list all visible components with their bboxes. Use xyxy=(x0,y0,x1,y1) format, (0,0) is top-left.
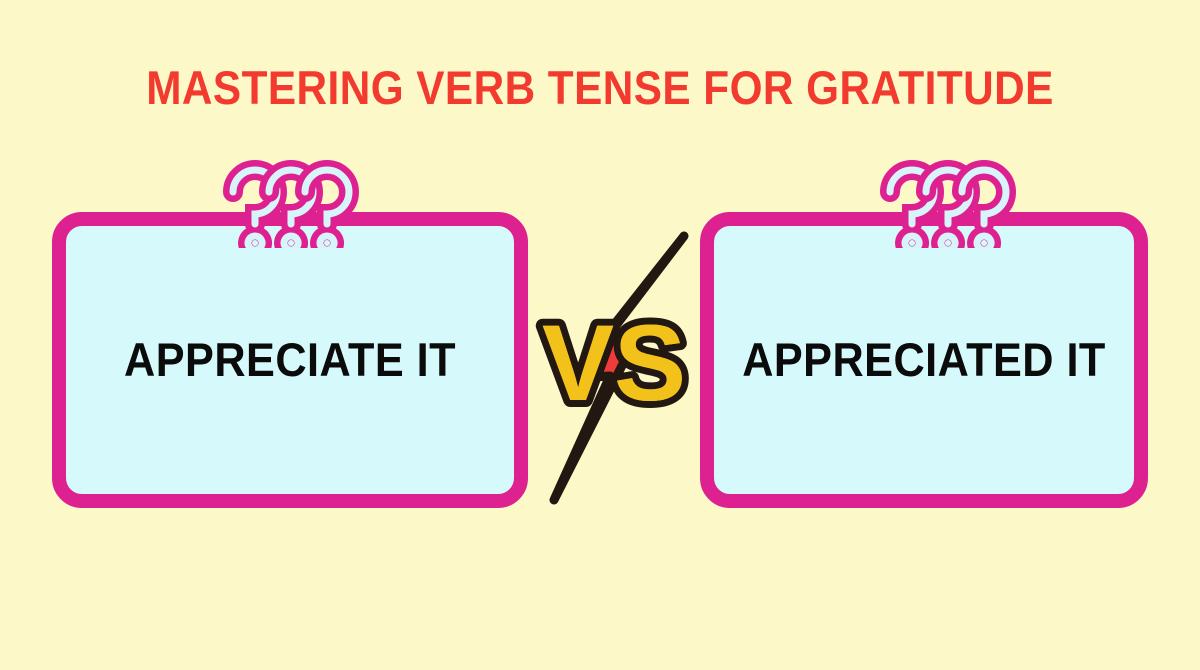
page-title: MASTERING VERB TENSE FOR GRATITUDE xyxy=(60,63,1140,113)
question-marks-right xyxy=(860,148,1036,248)
comparison-card-left[interactable]: APPRECIATE IT xyxy=(52,212,528,508)
versus-badge: VS VS xyxy=(524,222,704,512)
question-marks-left xyxy=(203,148,379,248)
infographic-canvas: MASTERING VERB TENSE FOR GRATITUDE APPRE… xyxy=(0,0,1200,670)
comparison-card-left-label: APPRECIATE IT xyxy=(84,334,496,386)
comparison-card-right-label: APPRECIATED IT xyxy=(731,334,1117,386)
comparison-card-right[interactable]: APPRECIATED IT xyxy=(700,212,1148,508)
versus-label: VS xyxy=(542,302,686,423)
